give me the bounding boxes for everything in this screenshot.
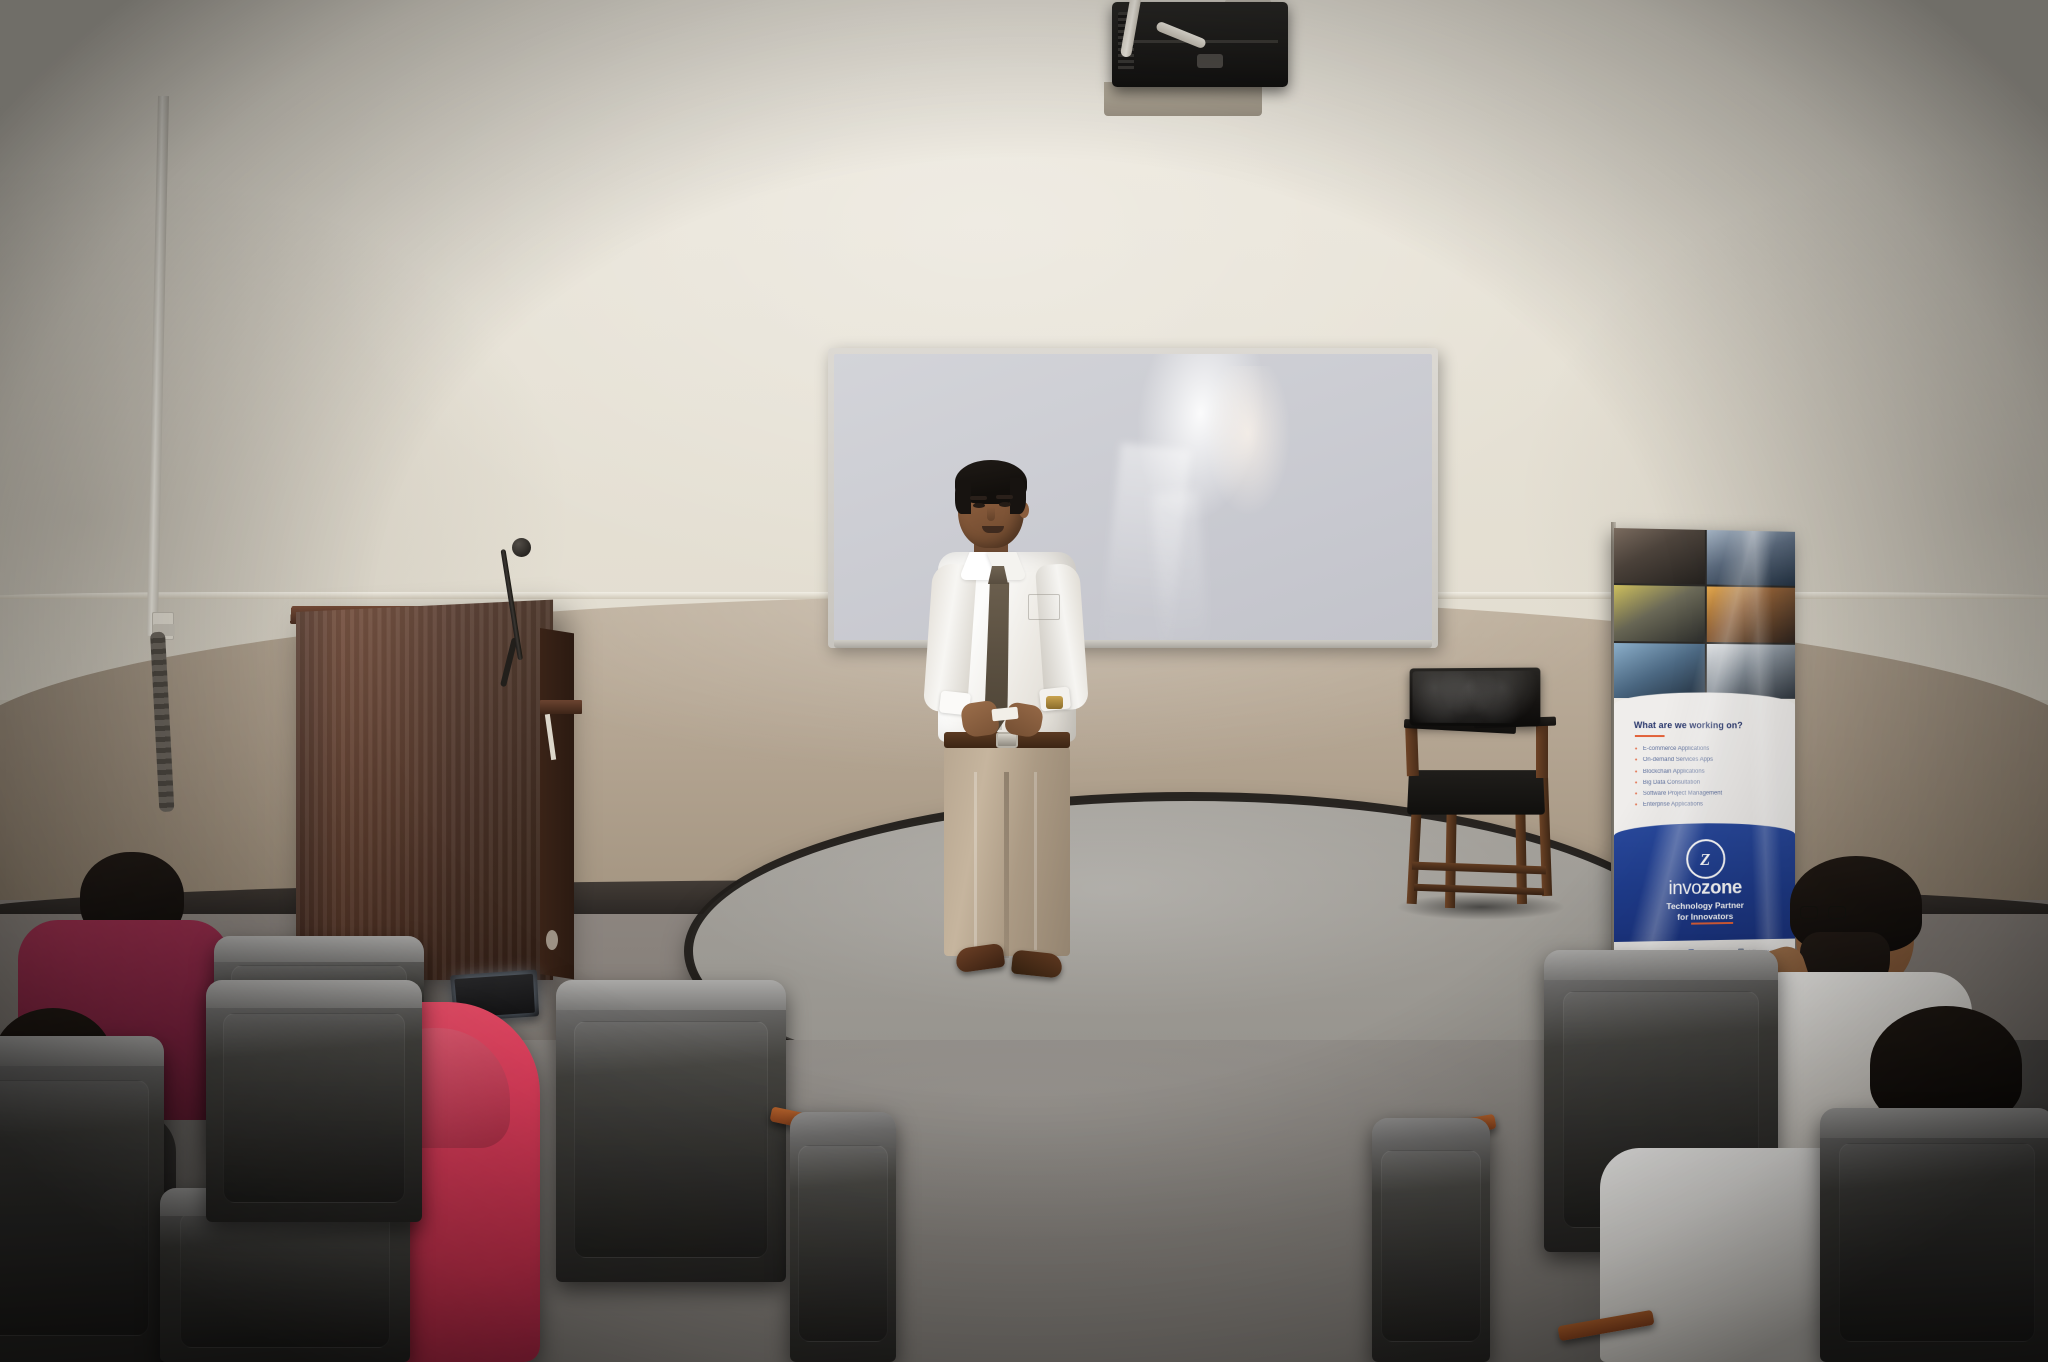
brand-wordmark: invozone: [1614, 878, 1795, 899]
seat-headrest: [206, 980, 422, 1008]
attendee-hair: [1870, 1006, 2022, 1124]
presenter-hair-side: [955, 480, 971, 514]
trouser-crease: [1034, 772, 1037, 950]
wristwatch-icon: [1046, 696, 1063, 709]
tagline-underlined: Innovators: [1691, 911, 1733, 925]
collage-photo: [1706, 644, 1795, 699]
microphone-icon[interactable]: [512, 538, 531, 557]
seat-headrest: [214, 936, 424, 962]
seat-headrest: [556, 980, 786, 1010]
auditorium-seat[interactable]: [1372, 1118, 1490, 1362]
collage-photo: [1614, 643, 1704, 699]
invozone-rollup-banner[interactable]: What are we working on? E-commerce Appli…: [1614, 528, 1795, 966]
banner-service-item: E-commerce Applications: [1635, 744, 1787, 755]
tagline-prefix: for: [1677, 912, 1690, 922]
banner-services-list: E-commerce Applications On-demand Servic…: [1635, 744, 1787, 811]
podium-shelf: [540, 700, 582, 714]
team-photo-collage: [1614, 528, 1795, 699]
auditorium-seat[interactable]: [0, 1038, 164, 1362]
presenter-eyebrow: [970, 496, 987, 500]
shirt-pocket: [1028, 594, 1060, 620]
banner-service-item: Big Data Consultation: [1635, 777, 1787, 789]
whiteboard-glare: [1205, 366, 1291, 516]
collage-photo: [1706, 530, 1795, 586]
black-tufted-leather-armchair[interactable]: [1410, 668, 1541, 727]
eyeglasses: [1800, 906, 1846, 919]
banner-heading: What are we working on?: [1634, 720, 1783, 731]
chair-seat-cushion[interactable]: [1407, 770, 1545, 815]
trouser-crease: [974, 772, 977, 952]
auditorium-seat[interactable]: [790, 1112, 896, 1362]
banner-service-item: Enterprise Applications: [1635, 799, 1787, 811]
presenter-mouth: [982, 526, 1004, 533]
seminar-hall-photo: What are we working on? E-commerce Appli…: [0, 0, 2048, 1362]
auditorium-seat[interactable]: [556, 982, 786, 1282]
presenter-leg-split: [1004, 772, 1009, 958]
presenter-eye: [973, 503, 985, 508]
banner-heading-rule: [1635, 735, 1665, 737]
brand-tagline: Technology Partner for Innovators: [1614, 899, 1795, 923]
wooden-podium[interactable]: [296, 600, 553, 980]
collage-photo: [1706, 587, 1795, 643]
presenter-eyebrow: [996, 495, 1013, 499]
banner-service-item: Blockchain Applications: [1635, 766, 1787, 778]
seat-headrest: [0, 1036, 164, 1066]
projector-lens-icon: [1197, 54, 1223, 68]
auditorium-seat[interactable]: [1820, 1110, 2048, 1362]
podium-side-panel: [540, 628, 574, 979]
seat-headrest: [1544, 950, 1778, 980]
brand-word-part1: invo: [1669, 878, 1702, 899]
chair-arm-post: [1536, 722, 1548, 778]
podium-handle[interactable]: [546, 930, 558, 950]
monogram-glyph: Ζ: [1700, 851, 1710, 868]
presenter-eye: [999, 502, 1011, 507]
collage-photo: [1614, 585, 1704, 641]
chair-arm-post: [1405, 724, 1419, 776]
brand-word-part2: zone: [1701, 877, 1742, 898]
collage-photo: [1614, 528, 1704, 585]
projector-ceiling-mount: [1104, 82, 1262, 116]
banner-service-item: Software Project Management: [1635, 788, 1787, 800]
presenter: [900, 452, 1110, 1002]
chair-shadow: [1396, 894, 1566, 920]
banner-service-item: On-demand Services Apps: [1635, 755, 1787, 766]
presenter-nose: [987, 507, 995, 521]
seat-headrest: [1820, 1108, 2048, 1138]
auditorium-seat[interactable]: [206, 982, 422, 1222]
